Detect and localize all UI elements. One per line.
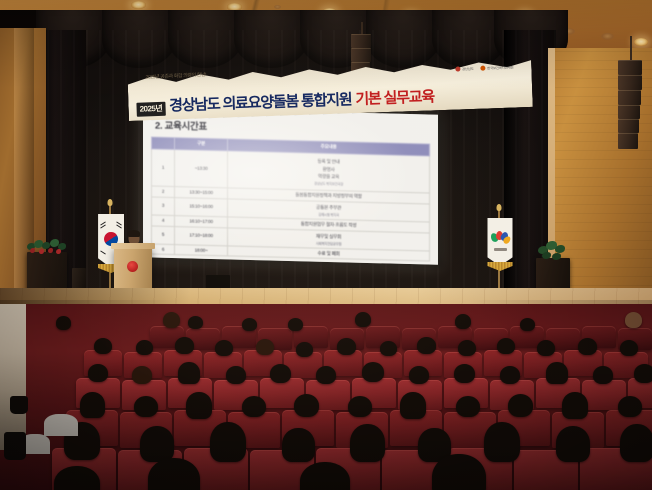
row-time: ~13:30 xyxy=(174,149,227,187)
audience-head xyxy=(618,396,642,417)
audience-head xyxy=(242,396,266,417)
audience-head xyxy=(634,364,652,383)
bag xyxy=(10,396,28,414)
audience-head xyxy=(256,339,274,355)
row-content: 등록 및 안내 환영사 역량을 교육 경상남도 복지보건국장 xyxy=(228,151,430,193)
column-header-no xyxy=(152,137,175,149)
audience-head xyxy=(88,364,108,382)
audience-head xyxy=(188,316,203,329)
audience-head xyxy=(270,364,291,383)
banner-year-badge: 2025년 xyxy=(136,101,165,116)
flowers-left xyxy=(25,239,71,257)
audience-head xyxy=(458,340,476,356)
audience-head xyxy=(593,366,613,384)
audience-head xyxy=(625,312,642,328)
flag-finial-icon xyxy=(497,204,502,211)
audience-head xyxy=(355,312,371,327)
logo-mark-icon xyxy=(481,66,486,71)
schedule-table-body: 1 ~13:30 등록 및 안내 환영사 역량을 교육 경상남도 복지보건국장 … xyxy=(152,149,430,262)
row-time: 15:10~16:00 xyxy=(174,197,227,217)
audience-head xyxy=(500,366,520,384)
audience-head xyxy=(380,341,397,356)
row-number: 2 xyxy=(152,186,175,197)
audience-head-foreground xyxy=(432,454,486,490)
row-number: 1 xyxy=(152,149,175,187)
podium-top xyxy=(111,243,155,249)
bag xyxy=(4,432,26,460)
audience-head xyxy=(546,362,568,384)
province-flag xyxy=(482,209,516,295)
audience-head xyxy=(132,366,152,384)
logo-label: 경상남도 xyxy=(462,66,474,71)
audience-head xyxy=(226,366,246,384)
logo-mark-icon xyxy=(455,66,460,71)
audience-head xyxy=(456,396,480,417)
audience-head xyxy=(294,394,319,417)
row-time: 18:00~ xyxy=(174,244,227,256)
audience-head xyxy=(455,314,471,329)
audience-head xyxy=(316,366,336,384)
audience-head xyxy=(417,337,436,354)
audience-head xyxy=(242,318,257,331)
downlight xyxy=(274,5,281,9)
planter-right xyxy=(536,258,570,292)
audience-head xyxy=(409,366,429,384)
audience-head xyxy=(282,428,315,462)
audience-head xyxy=(348,396,372,417)
projection-screen: 2. 교육시간표 구분 주요내용 1 ~13:30 등록 및 안내 xyxy=(143,107,438,264)
side-wall-panel xyxy=(0,304,26,450)
audience-head xyxy=(140,426,174,462)
audience-head xyxy=(454,364,475,383)
audience-head xyxy=(520,318,535,331)
presenter-hair xyxy=(128,230,140,237)
audience-head xyxy=(136,340,153,355)
audience-head xyxy=(620,340,638,356)
audience-head xyxy=(288,318,303,331)
downlight xyxy=(601,33,614,40)
audience-head xyxy=(362,362,384,382)
audience-seating-area xyxy=(0,304,652,490)
podium-emblem-icon xyxy=(127,261,138,272)
row-number: 5 xyxy=(152,226,175,245)
audience-head xyxy=(350,424,385,462)
row-number: 3 xyxy=(152,197,175,216)
audience-head xyxy=(537,340,555,356)
audience-head xyxy=(178,362,200,384)
row-time: 17:10~18:00 xyxy=(174,226,227,246)
auditorium-photo: 2. 교육시간표 구분 주요내용 1 ~13:30 등록 및 안내 xyxy=(0,0,652,490)
audience-head xyxy=(562,392,588,419)
audience-head xyxy=(337,338,356,355)
audience-head xyxy=(210,422,246,462)
presentation-slide: 2. 교육시간표 구분 주요내용 1 ~13:30 등록 및 안내 xyxy=(143,107,438,264)
line-array-speaker-right xyxy=(618,36,644,142)
audience-head xyxy=(484,422,520,462)
trigram-icon xyxy=(100,250,106,254)
audience-head xyxy=(400,392,426,419)
planter-left xyxy=(27,252,67,292)
logo-gyeongnam: 경상남도 xyxy=(455,66,473,72)
audience-head-foreground xyxy=(148,458,200,490)
audience-head xyxy=(620,424,652,462)
row-number: 4 xyxy=(152,215,175,226)
audience-head xyxy=(497,338,515,354)
audience-head xyxy=(578,338,597,355)
audience-shoulder xyxy=(44,414,78,436)
audience-head xyxy=(94,338,112,354)
flag-finial-icon xyxy=(108,199,113,206)
audience-head xyxy=(215,340,233,356)
flag-fringe xyxy=(488,262,513,271)
province-name-text xyxy=(494,248,507,251)
schedule-table: 구분 주요내용 1 ~13:30 등록 및 안내 환영사 역량을 교육 경상남도… xyxy=(151,136,430,262)
slide-title: 2. 교육시간표 xyxy=(155,118,430,139)
logo-label: 한국보건복지인재원 xyxy=(487,65,513,71)
audience-head xyxy=(186,392,212,419)
audience-head xyxy=(163,312,180,328)
audience-head xyxy=(175,337,194,354)
audience-head xyxy=(508,394,533,417)
audience-head xyxy=(556,426,590,462)
audience-head xyxy=(296,342,313,357)
downlight xyxy=(131,1,146,9)
plant-right xyxy=(534,240,574,262)
audience-head xyxy=(134,396,158,417)
province-emblem-icon xyxy=(491,231,510,245)
flag-cloth xyxy=(488,218,513,266)
audience-head xyxy=(56,316,71,330)
audience-head xyxy=(80,392,105,418)
banner-accent-title: 기본 실무교육 xyxy=(355,85,434,109)
